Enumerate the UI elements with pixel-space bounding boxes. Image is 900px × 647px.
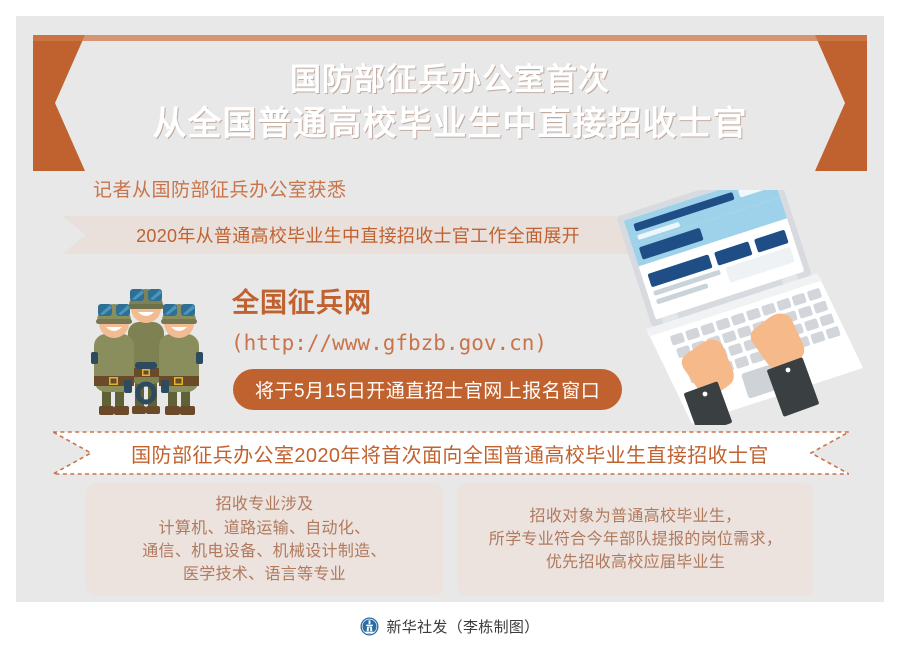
site-url[interactable]: (http://www.gfbzb.gov.cn)	[231, 330, 547, 356]
frame-top	[0, 0, 900, 16]
card-eligibility-line-3: 优先招收高校应届毕业生	[546, 551, 725, 574]
frame-left	[0, 0, 16, 647]
lead-text: 记者从国防部征兵办公室获悉	[93, 178, 347, 204]
card-majors-heading: 招收专业涉及	[216, 493, 314, 516]
frame-right	[884, 0, 900, 647]
card-majors: 招收专业涉及 计算机、道路运输、自动化、 通信、机电设备、机械设计制造、 医学技…	[86, 483, 443, 596]
site-name: 全国征兵网	[232, 288, 372, 320]
card-eligibility: 招收对象为普通高校毕业生， 所学专业符合今年部队提报的岗位需求， 优先招收高校应…	[457, 483, 814, 596]
laptop-typing-hands-icon	[592, 190, 882, 425]
card-eligibility-line-1: 招收对象为普通高校毕业生，	[530, 505, 742, 528]
card-majors-line-2: 通信、机电设备、机械设计制造、	[142, 540, 387, 563]
card-eligibility-line-2: 所学专业符合今年部队提报的岗位需求，	[489, 528, 782, 551]
card-majors-line-3: 医学技术、语言等专业	[183, 563, 346, 586]
xinhua-logo-icon	[360, 617, 379, 636]
footer: 新华社发（李栋制图）	[0, 616, 900, 637]
three-soldiers-icon	[78, 268, 214, 420]
registration-window-pill[interactable]: 将于5月15日开通直招士官网上报名窗口	[233, 369, 622, 410]
detail-cards: 招收专业涉及 计算机、道路运输、自动化、 通信、机电设备、机械设计制造、 医学技…	[86, 483, 814, 596]
summary-banner: 国防部征兵办公室2020年将首次面向全国普通高校毕业生直接招收士官	[51, 430, 849, 476]
footer-credit: 新华社发（李栋制图）	[386, 616, 539, 637]
card-majors-line-1: 计算机、道路运输、自动化、	[159, 517, 371, 540]
infographic-poster: 国防部征兵办公室首次 从全国普通高校毕业生中直接招收士官 记者从国防部征兵办公室…	[0, 0, 900, 647]
flag-banner: 2020年从普通高校毕业生中直接招收士官工作全面展开	[62, 216, 654, 254]
title-ribbon: 国防部征兵办公室首次 从全国普通高校毕业生中直接招收士官	[33, 35, 867, 171]
